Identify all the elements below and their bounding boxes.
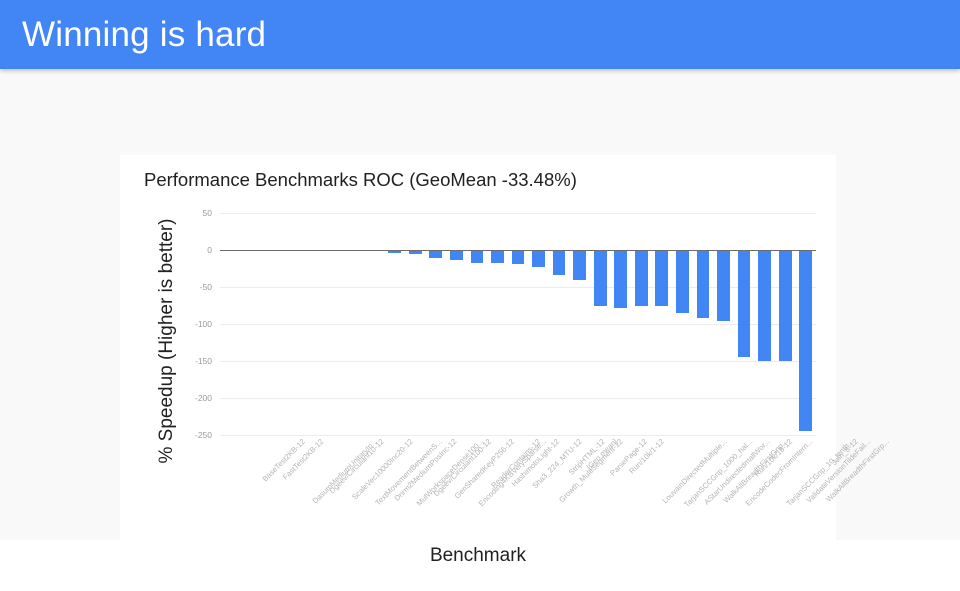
slide-body: Performance Benchmarks ROC (GeoMean -33.…: [0, 69, 960, 540]
chart-card: Performance Benchmarks ROC (GeoMean -33.…: [120, 155, 836, 591]
bar[interactable]: [471, 250, 484, 263]
page-title: Winning is hard: [22, 15, 266, 55]
bar[interactable]: [532, 250, 545, 267]
bar[interactable]: [635, 250, 648, 306]
x-axis-title: Benchmark: [120, 545, 836, 567]
bar[interactable]: [450, 250, 463, 260]
zero-axis-line: [220, 250, 816, 251]
bar[interactable]: [491, 250, 504, 263]
y-axis-tick-label: -100: [92, 319, 212, 329]
slide: Winning is hard Performance Benchmarks R…: [0, 0, 960, 540]
bar[interactable]: [779, 250, 792, 361]
y-axis-tick-label: -250: [92, 430, 212, 440]
bar[interactable]: [614, 250, 627, 308]
y-axis-title: % Speedup (Higher is better): [156, 191, 178, 491]
bar[interactable]: [697, 250, 710, 318]
bar[interactable]: [512, 250, 525, 264]
bar[interactable]: [717, 250, 730, 321]
plot-area: 500-50-100-150-200-250: [220, 213, 816, 435]
y-axis-tick-label: -200: [92, 393, 212, 403]
y-axis-tick-label: 50: [92, 208, 212, 218]
y-axis-tick-label: 0: [92, 245, 212, 255]
bar[interactable]: [573, 250, 586, 280]
bar[interactable]: [553, 250, 566, 275]
plot-wrapper: 500-50-100-150-200-250: [220, 213, 816, 435]
y-axis-tick-label: -150: [92, 356, 212, 366]
bar[interactable]: [655, 250, 668, 306]
x-axis-tick-labels: BaseTest2KB-12FastTest2KB-12DasumMediumU…: [220, 435, 816, 545]
bar-series: [220, 213, 816, 435]
y-axis-tick-label: -50: [92, 282, 212, 292]
chart-title: Performance Benchmarks ROC (GeoMean -33.…: [144, 169, 577, 191]
slide-title-banner: Winning is hard: [0, 0, 960, 69]
bar[interactable]: [799, 250, 812, 431]
x-axis-tick-label: Dgeev/Circulant10-12: [327, 437, 385, 495]
bar[interactable]: [676, 250, 689, 313]
bar[interactable]: [594, 250, 607, 306]
bar[interactable]: [429, 250, 442, 258]
bar[interactable]: [738, 250, 751, 357]
bar[interactable]: [758, 250, 771, 361]
